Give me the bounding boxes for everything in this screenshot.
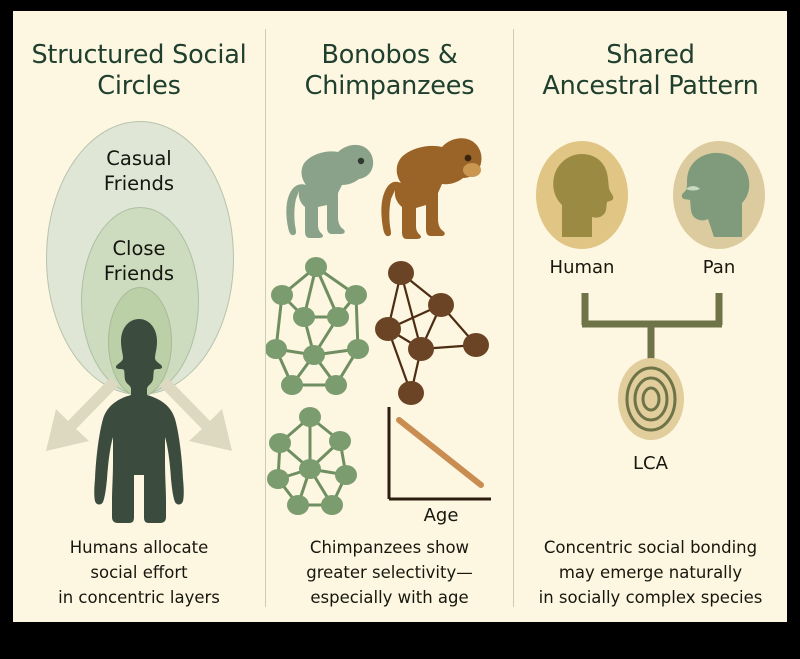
bonobo-silhouette-icon	[286, 145, 373, 238]
chimpanzee-network-sparse	[375, 261, 489, 405]
bonobo-network-second	[267, 407, 357, 515]
panel-structured-social-circles: Structured Social Circles Casual Friends…	[13, 11, 265, 622]
panel-1-title-line-2: Circles	[13, 71, 265, 102]
ring-label-close-line-1: Close	[13, 236, 265, 261]
panel-3-caption: Concentric social bonding may emerge nat…	[518, 535, 783, 610]
panel-shared-ancestral-pattern: Shared Ancestral Pattern Human Pan	[514, 11, 787, 622]
portrait-label-pan: Pan	[664, 257, 774, 278]
human-figure-with-arrows	[13, 311, 265, 526]
bonobo-eye-icon	[358, 158, 364, 164]
panel-3-title-line-2: Ancestral Pattern	[514, 71, 787, 102]
panel-2-caption-line-3: especially with age	[270, 585, 509, 610]
chimpanzee-muzzle-icon	[463, 163, 481, 177]
panel-2-title-line-1: Bonobos &	[266, 40, 513, 71]
selectivity-vs-age-chart: Age	[389, 407, 491, 525]
panel-3-title-line-1: Shared	[514, 40, 787, 71]
phylogenetic-tree	[514, 287, 787, 477]
chart-trend-line	[399, 420, 481, 485]
infographic-root: Structured Social Circles Casual Friends…	[0, 0, 800, 659]
ring-label-close-line-2: Friends	[13, 261, 265, 286]
ape-silhouettes	[266, 133, 513, 245]
social-network-diagrams: Age	[266, 257, 513, 525]
panel-2-caption-line-1: Chimpanzees show	[270, 535, 509, 560]
panel-3-title: Shared Ancestral Pattern	[514, 40, 787, 102]
chart-x-axis-label: Age	[424, 505, 459, 525]
lca-label: LCA	[514, 453, 787, 474]
ring-label-casual-line-1: Casual	[13, 146, 265, 171]
pan-portrait	[673, 141, 765, 249]
infographic-canvas: Structured Social Circles Casual Friends…	[13, 11, 787, 622]
panel-1-title: Structured Social Circles	[13, 40, 265, 102]
panel-1-caption: Humans allocate social effort in concent…	[17, 535, 261, 610]
panel-3-caption-line-1: Concentric social bonding	[518, 535, 783, 560]
human-portrait	[536, 141, 628, 249]
panel-2-caption: Chimpanzees show greater selectivity— es…	[270, 535, 509, 610]
chimpanzee-eye-icon	[465, 155, 472, 162]
panel-1-caption-line-3: in concentric layers	[17, 585, 261, 610]
panel-1-caption-line-2: social effort	[17, 560, 261, 585]
ring-label-casual-line-2: Friends	[13, 171, 265, 196]
bonobo-network-dense	[266, 257, 369, 395]
panel-2-title-line-2: Chimpanzees	[266, 71, 513, 102]
species-portraits	[514, 133, 787, 258]
ring-label-close-friends: Close Friends	[13, 236, 265, 286]
panel-1-title-line-1: Structured Social	[13, 40, 265, 71]
ring-label-casual-friends: Casual Friends	[13, 146, 265, 196]
panel-bonobos-and-chimpanzees: Bonobos & Chimpanzees	[266, 11, 513, 622]
panel-3-caption-line-3: in socially complex species	[518, 585, 783, 610]
tree-bracket	[582, 293, 722, 359]
lca-node	[618, 358, 684, 440]
chimpanzee-silhouette-icon	[381, 138, 481, 239]
portrait-label-human: Human	[527, 257, 637, 278]
panel-3-caption-line-2: may emerge naturally	[518, 560, 783, 585]
human-silhouette-icon	[94, 319, 184, 523]
panel-2-caption-line-2: greater selectivity—	[270, 560, 509, 585]
panel-1-caption-line-1: Humans allocate	[17, 535, 261, 560]
panel-2-title: Bonobos & Chimpanzees	[266, 40, 513, 102]
